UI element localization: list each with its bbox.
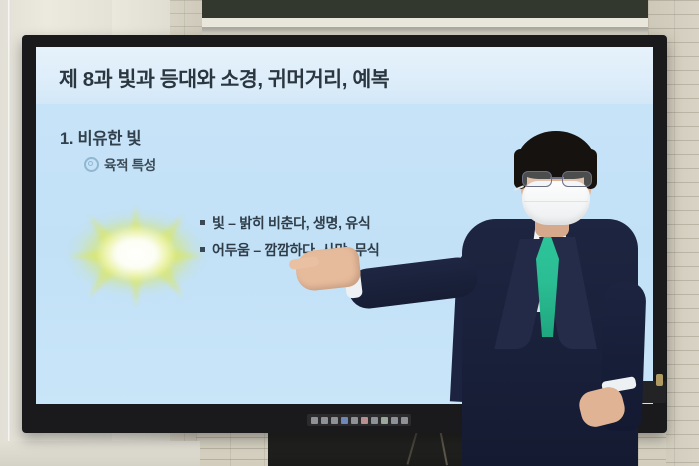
presenter-figure: [452, 131, 652, 466]
chalkboard-frame: [150, 18, 699, 26]
bullet-marker-icon: [200, 247, 205, 252]
presenter-hand-pointing: [294, 246, 362, 292]
sun-burst-rays-icon: [61, 197, 211, 315]
lecture-room-scene: 제 8과 빛과 등대와 소경, 귀머거리, 예복 1. 비유한 빛 육적 특성: [0, 0, 699, 466]
volume-down-button[interactable]: [351, 417, 358, 424]
display-control-strip[interactable]: [307, 414, 411, 426]
volume-up-button[interactable]: [341, 417, 348, 424]
circle-marker-icon: [84, 157, 99, 172]
source-button[interactable]: [331, 417, 338, 424]
face-mask-fold: [524, 201, 588, 202]
bullet-marker-icon: [200, 220, 205, 225]
floor-strip: [0, 441, 200, 466]
eyeglasses: [522, 171, 592, 186]
channel-down-button[interactable]: [371, 417, 378, 424]
list-item: 빛 – 밝히 비춘다, 생명, 유식: [200, 213, 379, 233]
home-button[interactable]: [401, 417, 408, 424]
channel-up-button[interactable]: [361, 417, 368, 424]
slide-subheading-row: 육적 특성: [84, 154, 156, 174]
eyeglass-lens-left: [522, 171, 552, 187]
input-button[interactable]: [381, 417, 388, 424]
slide-title: 제 8과 빛과 등대와 소경, 귀머거리, 예복: [59, 62, 389, 92]
eyeglass-lens-right: [562, 171, 592, 187]
menu-button[interactable]: [321, 417, 328, 424]
slide-subheading: 육적 특성: [104, 154, 156, 174]
settings-button[interactable]: [391, 417, 398, 424]
power-button[interactable]: [311, 417, 318, 424]
bullet-text: 빛 – 밝히 비춘다, 생명, 유식: [212, 213, 370, 233]
face-mask: [522, 181, 590, 225]
slide-heading: 1. 비유한 빛: [60, 125, 141, 149]
display-mount-bolt: [656, 374, 663, 386]
